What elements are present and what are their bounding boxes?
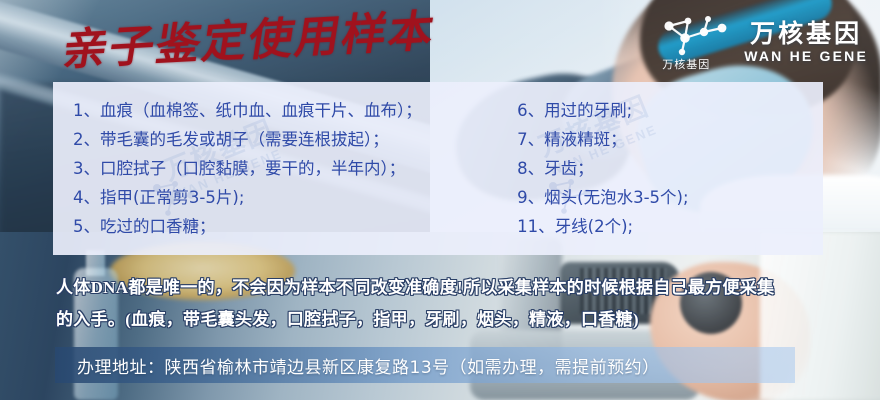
list-item: 8、牙齿； [517,154,823,183]
list-item: 7、精液精斑； [517,125,823,154]
brand-logo: 万核基因 万核基因 WAN HE GENE [660,14,868,70]
list-item: 6、用过的牙刷; [517,96,823,125]
list-item: 2、带毛囊的毛发或胡子（需要连根拔起）； [73,125,507,154]
logo-mark-caption: 万核基因 [662,56,710,72]
list-item: 11、牙线(2个); [517,212,823,241]
list-item: 9、烟头(无泡水3-5个); [517,183,823,212]
list-item: 5、吃过的口香糖； [73,212,507,241]
explanation-paragraph: 人体DNA都是唯一的，不会因为样本不同改变准确度!所以采集样本的时候根据自己最方… [56,272,846,336]
address-bar: 办理地址：陕西省榆林市靖边县新区康复路13号（如需办理，需提前预约） [55,347,795,383]
paragraph-line-2: 的入手。(血痕，带毛囊头发，口腔拭子，指甲，牙刷，烟头，精液，口香糖) [56,304,846,336]
list-item: 1、血痕（血棉签、纸巾血、血痕干片、血布）； [73,96,507,125]
poster-canvas: 亲子鉴定使用样本 [0,0,880,400]
list-item: 3、口腔拭子（口腔黏膜，要干的，半年内）； [73,154,507,183]
sample-list-left-column: 1、血痕（血棉签、纸巾血、血痕干片、血布）； 2、带毛囊的毛发或胡子（需要连根拔… [53,96,507,255]
brand-name-block: 万核基因 WAN HE GENE [744,21,868,64]
sample-list-panel: 万核基因 WAN HE GENE [53,82,823,255]
brand-name-en: WAN HE GENE [744,49,868,64]
molecule-icon: 万核基因 [660,14,732,70]
paragraph-line-1: 人体DNA都是唯一的，不会因为样本不同改变准确度!所以采集样本的时候根据自己最方… [56,272,846,304]
address-text: 办理地址：陕西省榆林市靖边县新区康复路13号（如需办理，需提前预约） [77,353,660,378]
brand-name-cn: 万核基因 [744,21,868,47]
sample-list-right-column: 6、用过的牙刷; 7、精液精斑； 8、牙齿； 9、烟头(无泡水3-5个); 11… [507,96,823,255]
list-item: 4、指甲(正常剪3-5片); [73,183,507,212]
